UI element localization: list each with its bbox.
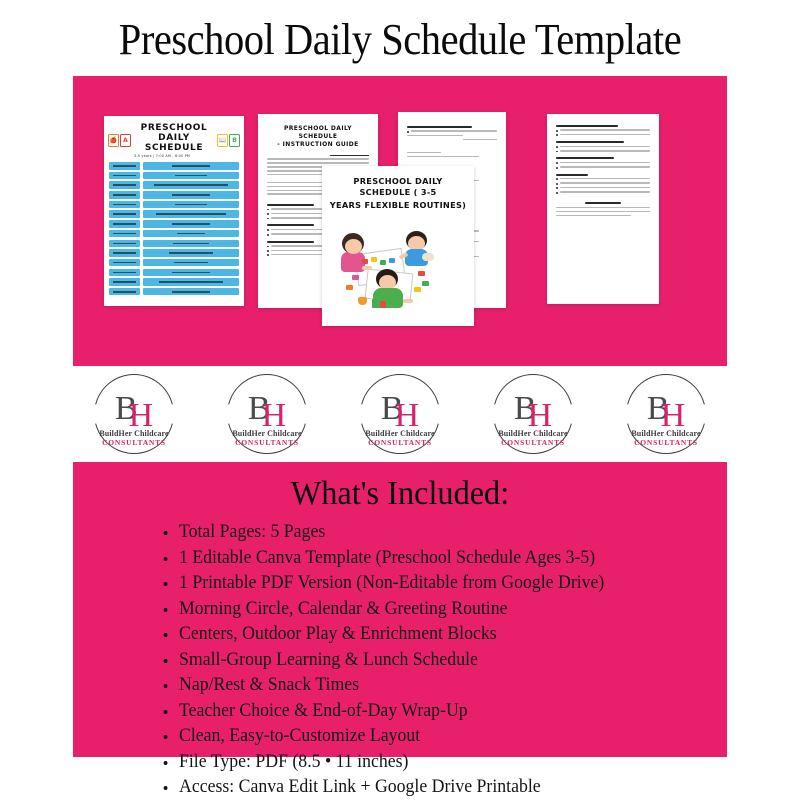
schedule-row-time — [109, 240, 140, 248]
schedule-doc-title-line2: SCHEDULE — [134, 143, 214, 153]
schedule-row-activity — [143, 259, 239, 267]
block-apple-icon: 🍎 — [108, 134, 119, 147]
schedule-row-time — [109, 210, 140, 218]
included-item: Morning Circle, Calendar & Greeting Rout… — [179, 597, 705, 623]
included-item: 1 Editable Canva Template (Preschool Sch… — [179, 546, 705, 572]
schedule-row-activity — [143, 269, 239, 277]
logo-tagline: CONSULTANTS — [79, 438, 189, 447]
logo-monogram: B H — [248, 394, 286, 434]
monogram-h: H — [528, 401, 553, 431]
schedule-row-activity — [143, 249, 239, 257]
schedule-row-activity — [143, 191, 239, 199]
included-item: Teacher Choice & End-of-Day Wrap-Up — [179, 699, 705, 725]
schedule-row-activity — [143, 162, 239, 170]
schedule-row — [109, 269, 239, 277]
schedule-row-time — [109, 269, 140, 277]
schedule-row-time — [109, 288, 140, 296]
included-item: File Type: PDF (8.5 • 11 inches) — [179, 750, 705, 776]
schedule-row — [109, 162, 239, 170]
schedule-doc-title-line1: PRESCHOOL DAILY — [134, 123, 214, 143]
mockup-schedule-document[interactable]: 🍎 A PRESCHOOL DAILY SCHEDULE 3-5 years |… — [104, 116, 244, 306]
brand-logo: B H BuildHer Childcare CONSULTANTS — [345, 370, 455, 458]
schedule-doc-header: 🍎 A PRESCHOOL DAILY SCHEDULE 3-5 years |… — [104, 116, 244, 160]
schedule-row-time — [109, 259, 140, 267]
schedule-row-time — [109, 181, 140, 189]
brand-logo: B H BuildHer Childcare CONSULTANTS — [478, 370, 588, 458]
mockup-cover-document[interactable]: PRESCHOOL DAILY SCHEDULE ( 3-5 YEARS FLE… — [322, 166, 474, 326]
logo-monogram: B H — [381, 394, 419, 434]
block-letter-a-icon: A — [120, 134, 131, 147]
schedule-row-time — [109, 230, 140, 238]
included-item: Nap/Rest & Snack Times — [179, 673, 705, 699]
logo-strip: B H BuildHer Childcare CONSULTANTS B H B… — [73, 366, 727, 462]
alphabet-blocks-left-icon: 🍎 A — [108, 134, 131, 147]
logo-name: BuildHer Childcare — [212, 429, 322, 438]
logo-name: BuildHer Childcare — [478, 429, 588, 438]
schedule-row — [109, 191, 239, 199]
schedule-doc-rows — [104, 160, 244, 302]
brand-logo: B H BuildHer Childcare CONSULTANTS — [212, 370, 322, 458]
cover-doc-title-line2: YEARS FLEXIBLE ROUTINES) — [322, 200, 474, 213]
schedule-row — [109, 249, 239, 257]
logo-name: BuildHer Childcare — [345, 429, 455, 438]
schedule-row-time — [109, 172, 140, 180]
included-item: Small-Group Learning & Lunch Schedule — [179, 648, 705, 674]
schedule-row-time — [109, 162, 140, 170]
schedule-row-time — [109, 249, 140, 257]
logo-tagline: CONSULTANTS — [212, 438, 322, 447]
schedule-row-time — [109, 201, 140, 209]
included-item: Access: Canva Edit Link + Google Drive P… — [179, 775, 705, 801]
schedule-row-activity — [143, 181, 239, 189]
monogram-h: H — [129, 401, 154, 431]
schedule-row — [109, 259, 239, 267]
schedule-row-activity — [143, 210, 239, 218]
schedule-row — [109, 288, 239, 296]
schedule-row — [109, 220, 239, 228]
whats-included-heading: What's Included: — [89, 462, 710, 514]
logo-name: BuildHer Childcare — [611, 429, 721, 438]
whats-included-section: What's Included: Total Pages: 5 Pages1 E… — [73, 462, 727, 757]
schedule-row — [109, 278, 239, 286]
children-playing-illustration — [322, 213, 474, 317]
logo-name: BuildHer Childcare — [79, 429, 189, 438]
mockup-page-five-document[interactable] — [547, 114, 659, 304]
instruction-doc-title-line2: - INSTRUCTION GUIDE — [267, 141, 369, 149]
logo-tagline: CONSULTANTS — [478, 438, 588, 447]
schedule-row — [109, 181, 239, 189]
alphabet-blocks-right-icon: 📖 B — [217, 134, 240, 147]
schedule-row-activity — [143, 172, 239, 180]
schedule-row — [109, 240, 239, 248]
logo-tagline: CONSULTANTS — [611, 438, 721, 447]
included-item: Centers, Outdoor Play & Enrichment Block… — [179, 622, 705, 648]
monogram-h: H — [661, 401, 686, 431]
block-letter-b-icon: B — [229, 134, 240, 147]
schedule-row — [109, 201, 239, 209]
cover-doc-title-line1: PRESCHOOL DAILY SCHEDULE ( 3-5 — [322, 166, 474, 200]
monogram-h: H — [395, 401, 420, 431]
schedule-row-activity — [143, 278, 239, 286]
whats-included-list: Total Pages: 5 Pages1 Editable Canva Tem… — [73, 520, 727, 801]
logo-monogram: B H — [647, 394, 685, 434]
page-title: Preschool Daily Schedule Template — [32, 14, 768, 66]
logo-tagline: CONSULTANTS — [345, 438, 455, 447]
brand-logo: B H BuildHer Childcare CONSULTANTS — [79, 370, 189, 458]
brand-logo: B H BuildHer Childcare CONSULTANTS — [611, 370, 721, 458]
schedule-row-activity — [143, 230, 239, 238]
instruction-doc-title-line1: PRESCHOOL DAILY SCHEDULE — [267, 125, 369, 140]
schedule-row — [109, 230, 239, 238]
page-five-body — [547, 114, 659, 228]
logo-monogram: B H — [514, 394, 552, 434]
block-book-icon: 📖 — [217, 134, 228, 147]
logo-monogram: B H — [115, 394, 153, 434]
schedule-row — [109, 210, 239, 218]
schedule-row-time — [109, 278, 140, 286]
schedule-row-activity — [143, 201, 239, 209]
schedule-row-activity — [143, 220, 239, 228]
schedule-row-activity — [143, 288, 239, 296]
schedule-row-time — [109, 220, 140, 228]
included-item: Total Pages: 5 Pages — [179, 520, 705, 546]
schedule-doc-subtitle: 3-5 years | 7:00 AM - 6:00 PM — [134, 154, 214, 158]
monogram-h: H — [262, 401, 287, 431]
schedule-row-activity — [143, 240, 239, 248]
included-item: Clean, Easy-to-Customize Layout — [179, 724, 705, 750]
schedule-row — [109, 172, 239, 180]
schedule-row-time — [109, 191, 140, 199]
included-item: 1 Printable PDF Version (Non-Editable fr… — [179, 571, 705, 597]
